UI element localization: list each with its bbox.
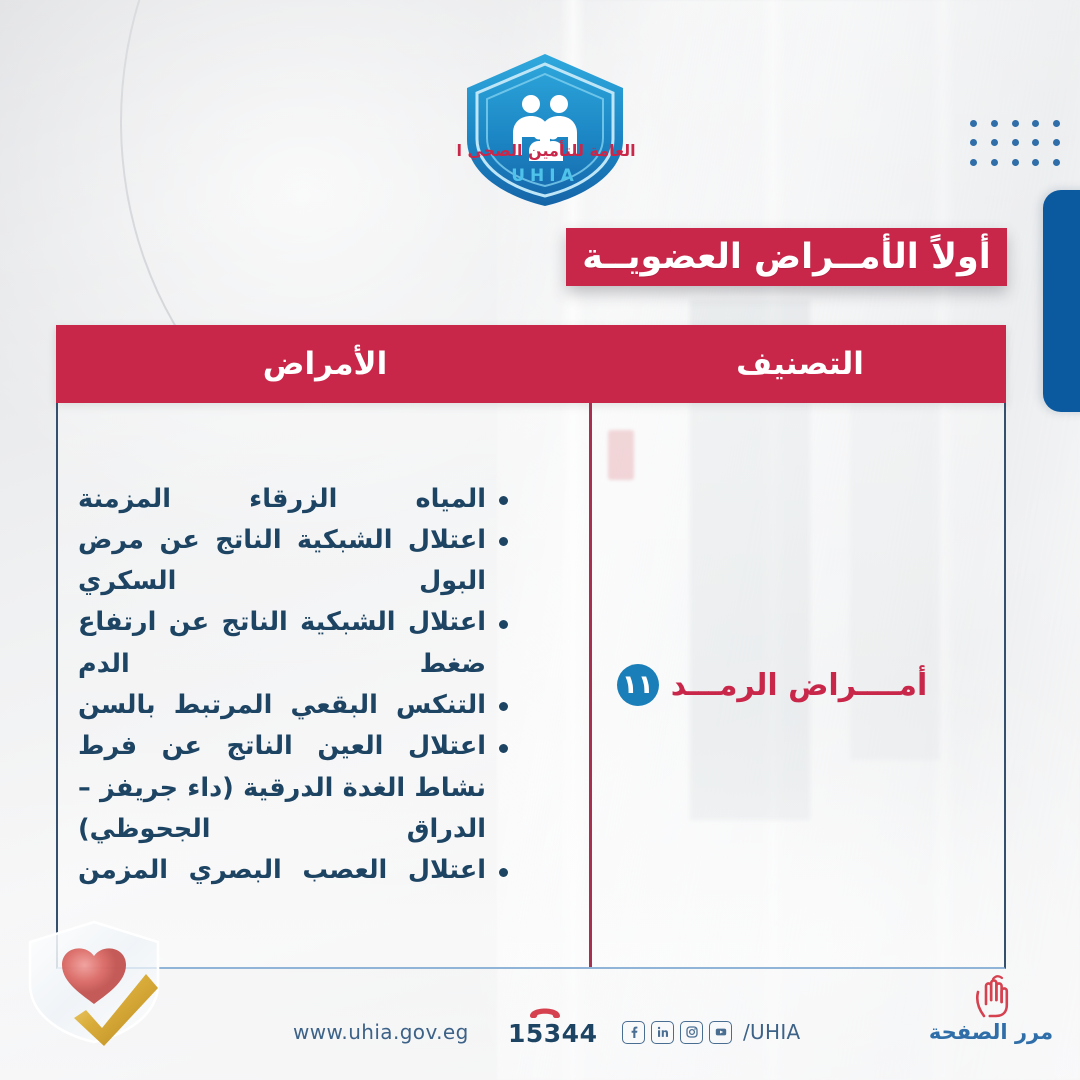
table-cell-diseases: المياه الزرقاء المزمنة اعتلال الشبكية ال… bbox=[58, 403, 540, 967]
uhia-logo: الهيئة العامة للتأمين الصحي الشامل UHIA bbox=[455, 48, 635, 210]
list-item: المياه الزرقاء المزمنة bbox=[78, 479, 512, 520]
section-title-text: أولاً الأمــراض العضويــة bbox=[582, 237, 991, 277]
website-url[interactable]: www.uhia.gov.eg bbox=[293, 1020, 469, 1044]
linkedin-icon[interactable] bbox=[651, 1021, 674, 1044]
table-header-classification: التصنيف bbox=[594, 325, 1006, 403]
svg-text:UHIA: UHIA bbox=[511, 166, 579, 186]
swipe-hint[interactable]: مرر الصفحة bbox=[916, 974, 1066, 1044]
table-header-diseases: الأمراض bbox=[56, 325, 594, 403]
row-number-badge: ١١ bbox=[617, 664, 659, 706]
hotline-number: 15344 bbox=[508, 1019, 597, 1048]
swipe-hand-icon bbox=[962, 974, 1020, 1020]
blue-edge-tab bbox=[1043, 190, 1080, 412]
footer: www.uhia.gov.eg 15344 /UHIA bbox=[0, 1002, 1080, 1058]
youtube-icon[interactable] bbox=[709, 1021, 732, 1044]
phone-icon bbox=[528, 1003, 562, 1018]
list-item: اعتلال الشبكية الناتج عن ارتفاع ضغط الدم bbox=[78, 602, 512, 685]
hotline[interactable]: 15344 bbox=[508, 1003, 582, 1048]
table-row: أمــــراض الرمـــد ١١ المياه الزرقاء الم… bbox=[56, 403, 1006, 969]
swipe-hint-label: مرر الصفحة bbox=[929, 1020, 1053, 1044]
instagram-icon[interactable] bbox=[680, 1021, 703, 1044]
table-column-divider bbox=[589, 403, 592, 967]
section-title-banner: أولاً الأمــراض العضويــة bbox=[566, 228, 1007, 286]
table-header-row: التصنيف الأمراض bbox=[56, 325, 1006, 403]
facebook-icon[interactable] bbox=[622, 1021, 645, 1044]
list-item: اعتلال الشبكية الناتج عن مرض البول السكر… bbox=[78, 520, 512, 603]
list-item: اعتلال العين الناتج عن فرط نشاط الغدة ال… bbox=[78, 726, 512, 850]
list-item: اعتلال العصب البصري المزمن bbox=[78, 850, 512, 891]
list-item: التنكس البقعي المرتبط بالسن bbox=[78, 685, 512, 726]
classification-label: أمــــراض الرمـــد bbox=[671, 668, 928, 703]
social-links[interactable]: /UHIA bbox=[622, 1020, 801, 1044]
table-cell-classification: أمــــراض الرمـــد ١١ bbox=[540, 403, 1004, 967]
table-header-diseases-label: الأمراض bbox=[263, 346, 388, 382]
table-header-classification-label: التصنيف bbox=[736, 346, 864, 382]
social-handle: /UHIA bbox=[743, 1020, 801, 1044]
row-number-text: ١١ bbox=[622, 672, 654, 698]
svg-text:الهيئة العامة للتأمين الصحي ال: الهيئة العامة للتأمين الصحي الشامل bbox=[455, 140, 635, 161]
disease-list: المياه الزرقاء المزمنة اعتلال الشبكية ال… bbox=[78, 479, 512, 892]
diseases-table: التصنيف الأمراض أمــــراض الرمـــد ١١ ال… bbox=[56, 325, 1006, 967]
decorative-dot-grid bbox=[963, 114, 1067, 172]
